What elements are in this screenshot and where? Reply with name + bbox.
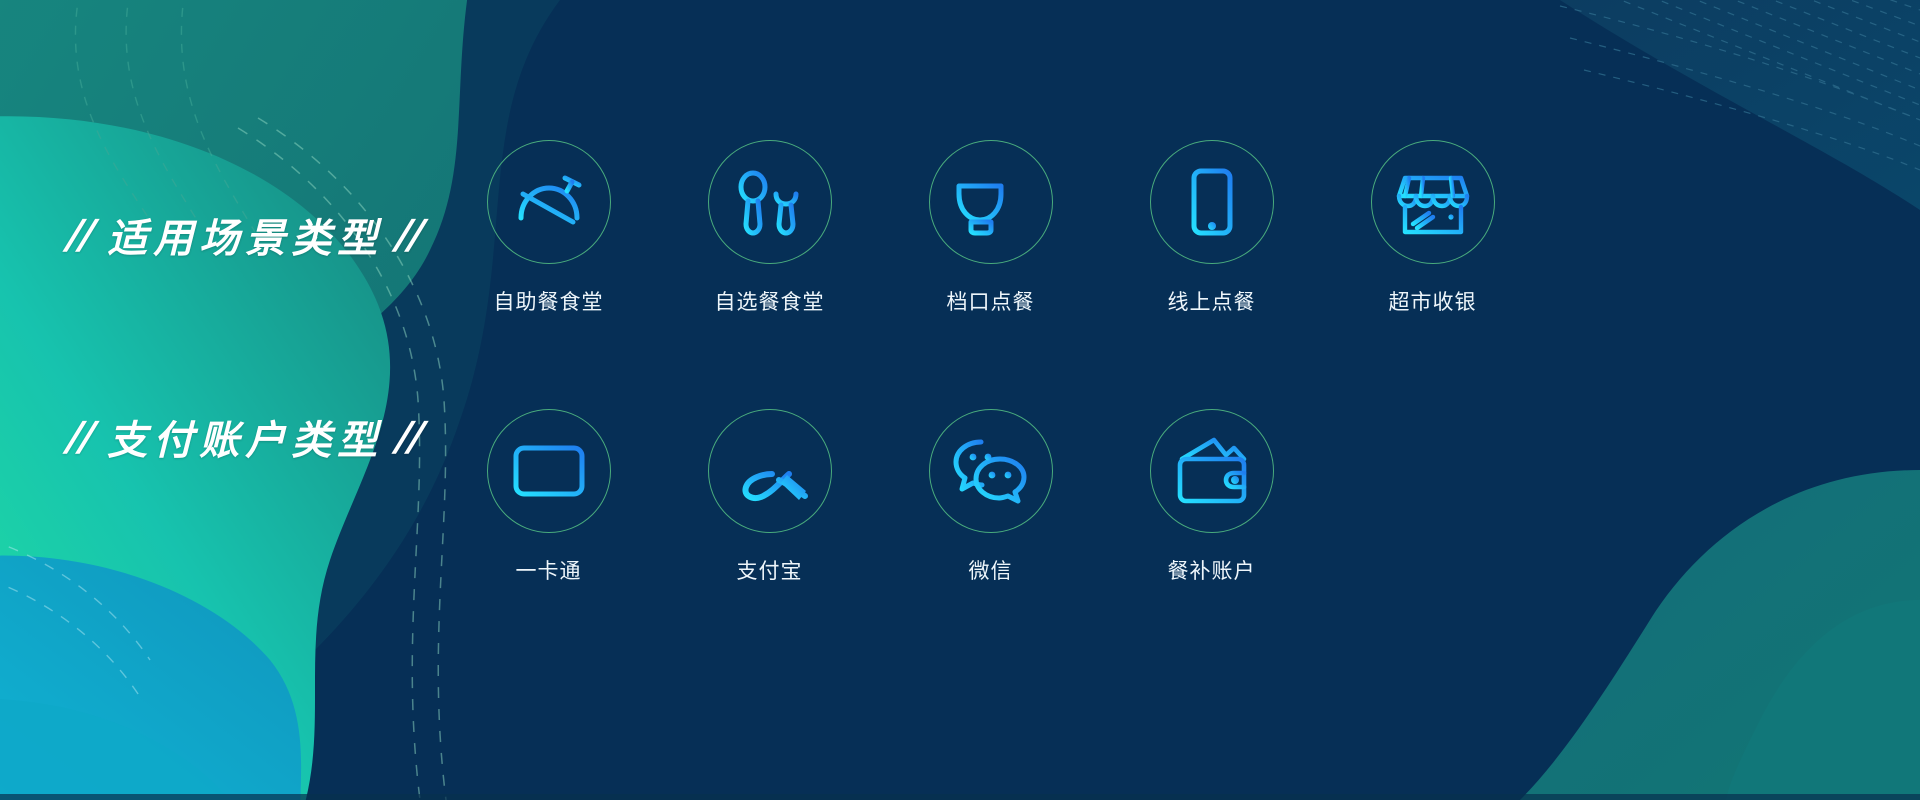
- payment-item-all-in-one-card[interactable]: 一卡通: [438, 409, 659, 585]
- icon-circle: [708, 409, 832, 533]
- slash-mark-icon: //: [66, 414, 96, 460]
- slash-mark-icon: //: [66, 212, 96, 258]
- icon-circle: [487, 409, 611, 533]
- icon-circle: [487, 140, 611, 264]
- icon-grid: 自助餐食堂: [438, 140, 1908, 585]
- storefront-icon: [1391, 160, 1475, 244]
- smartphone-icon: [1170, 160, 1254, 244]
- section-heading-payments: // 支付账户类型 //: [68, 408, 422, 466]
- section-heading-scenarios: // 适用场景类型 //: [68, 206, 422, 264]
- row-spacer: [1322, 409, 1543, 585]
- scenario-item-label: 档口点餐: [947, 286, 1035, 316]
- icon-circle: [929, 140, 1053, 264]
- scenario-item-label: 自助餐食堂: [494, 286, 604, 316]
- wallet-icon: [1170, 429, 1254, 513]
- payment-item-label: 餐补账户: [1168, 555, 1256, 585]
- scenario-item-label: 自选餐食堂: [715, 286, 825, 316]
- payment-item-label: 一卡通: [516, 555, 582, 585]
- payment-row: 一卡通: [438, 409, 1908, 585]
- section-heading-payments-text: 支付账户类型: [107, 408, 383, 466]
- food-dome-icon: [507, 160, 591, 244]
- icon-circle: [708, 140, 832, 264]
- scenario-row: 自助餐食堂: [438, 140, 1908, 316]
- payment-item-wechat[interactable]: 微信: [880, 409, 1101, 585]
- icon-circle: [929, 409, 1053, 533]
- icon-circle: [1150, 409, 1274, 533]
- slash-mark-icon-trailing: //: [395, 212, 425, 258]
- scenario-item-self-select-canteen[interactable]: 自选餐食堂: [659, 140, 880, 316]
- scenario-item-supermarket-checkout[interactable]: 超市收银: [1322, 140, 1543, 316]
- bowl-chopsticks-icon: [949, 160, 1033, 244]
- poster-canvas: // 适用场景类型 // // 支付账户类型 //: [0, 0, 1920, 800]
- section-heading-scenarios-text: 适用场景类型: [107, 206, 383, 264]
- icon-circle: [1371, 140, 1495, 264]
- credit-card-icon: [507, 429, 591, 513]
- slash-mark-icon-trailing: //: [395, 414, 425, 460]
- scenario-item-buffet-canteen[interactable]: 自助餐食堂: [438, 140, 659, 316]
- icon-circle: [1150, 140, 1274, 264]
- payment-item-label: 微信: [969, 555, 1013, 585]
- scenario-item-label: 超市收银: [1389, 286, 1477, 316]
- payment-item-label: 支付宝: [737, 555, 803, 585]
- payment-item-alipay[interactable]: 支付宝: [659, 409, 880, 585]
- payment-item-meal-subsidy-account[interactable]: 餐补账户: [1101, 409, 1322, 585]
- alipay-icon: [727, 428, 813, 514]
- scenario-item-online-ordering[interactable]: 线上点餐: [1101, 140, 1322, 316]
- scenario-item-stall-ordering[interactable]: 档口点餐: [880, 140, 1101, 316]
- wechat-icon: [948, 428, 1034, 514]
- scenario-item-label: 线上点餐: [1168, 286, 1256, 316]
- spoon-fork-icon: [728, 160, 812, 244]
